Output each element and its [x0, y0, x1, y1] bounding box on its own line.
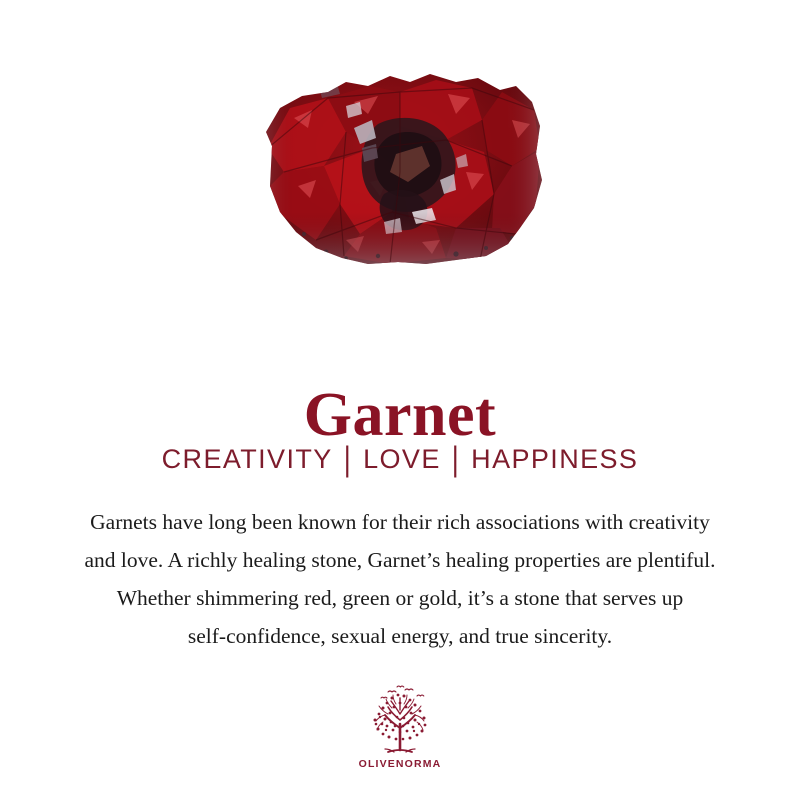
garnet-stone-image [0, 62, 800, 274]
page-title: Garnet [0, 380, 800, 450]
brand-name: OLIVENORMA [359, 758, 442, 770]
description-line: and love. A richly healing stone, Garnet… [20, 541, 780, 579]
brand-logo: OLIVENORMA [0, 684, 800, 770]
description-paragraph: Garnets have long been known for their r… [20, 503, 780, 655]
stone-body [250, 62, 550, 274]
birds-icon [381, 686, 424, 698]
keyword-love: LOVE [363, 442, 441, 476]
description-line: Garnets have long been known for their r… [20, 503, 780, 541]
description-line: Whether shimmering red, green or gold, i… [20, 579, 780, 617]
keyword-creativity: CREATIVITY [162, 442, 333, 476]
keyword-separator-1: | [344, 437, 352, 481]
keyword-happiness: HAPPINESS [471, 442, 638, 476]
keyword-line: CREATIVITY|LOVE|HAPPINESS [0, 442, 800, 476]
garnet-crystal-illustration [250, 62, 550, 274]
description-line: self-confidence, sexual energy, and true… [20, 617, 780, 655]
keyword-separator-2: | [452, 437, 460, 481]
gemstone-info-card: Garnet CREATIVITY|LOVE|HAPPINESS Garnets… [0, 0, 800, 800]
tree-of-life-icon [361, 684, 439, 756]
